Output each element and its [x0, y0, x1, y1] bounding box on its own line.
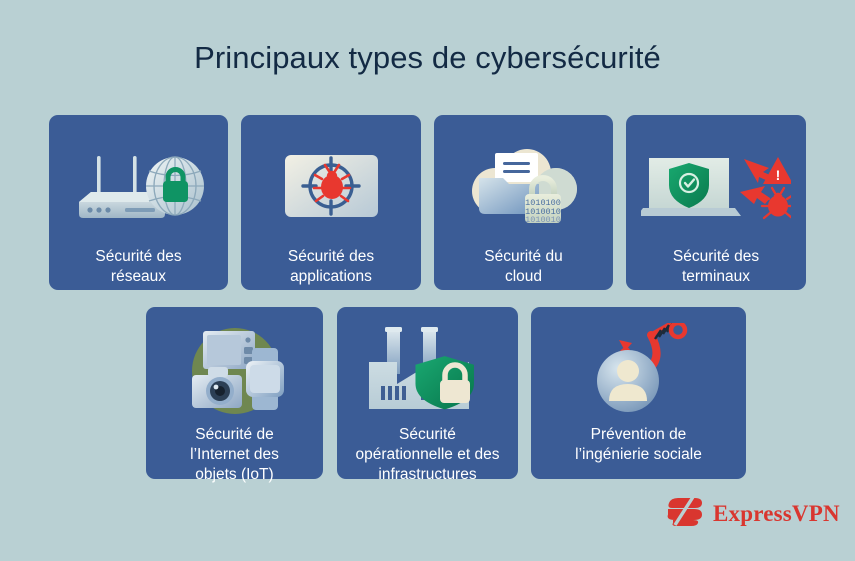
card-label-application-security: Sécurité des applications	[280, 247, 382, 287]
expressvpn-e-mark-icon	[666, 494, 704, 534]
page-title: Principaux types de cybersécurité	[0, 40, 855, 76]
card-label-social-engineering-prevention: Prévention de l’ingénierie sociale	[567, 425, 710, 465]
card-cloud-security[interactable]: 1010100 1010010 1010010 Sécurité du clou…	[434, 115, 613, 290]
factory-shield-lock-icon	[337, 307, 518, 419]
expressvpn-logo[interactable]: ExpressVPN	[666, 494, 840, 534]
screen-crosshair-bug-icon	[241, 115, 421, 237]
card-label-line-1: Sécurité des	[288, 248, 374, 265]
card-label-line-1: Sécurité des	[673, 248, 759, 265]
card-network-security[interactable]: Sécurité des réseaux	[49, 115, 228, 290]
card-endpoint-security[interactable]: !	[626, 115, 806, 290]
card-label-line-2: l’ingénierie sociale	[575, 446, 702, 463]
card-label-line-1: Sécurité du	[484, 248, 562, 265]
cloud-binary-line-3: 1010010	[525, 215, 561, 225]
card-application-security[interactable]: Sécurité des applications	[241, 115, 421, 290]
card-label-line-2: réseaux	[111, 268, 166, 285]
iot-devices-icon	[146, 307, 323, 419]
card-label-line-3: objets (IoT)	[195, 466, 273, 483]
router-globe-lock-icon	[49, 115, 228, 237]
card-label-iot-security: Sécurité de l’Internet des objets (IoT)	[182, 425, 287, 485]
cloud-folder-lock-icon: 1010100 1010010 1010010	[434, 115, 613, 237]
card-label-line-2: l’Internet des	[190, 446, 279, 463]
expressvpn-wordmark: ExpressVPN	[713, 501, 840, 527]
card-social-engineering-prevention[interactable]: Prévention de l’ingénierie sociale	[531, 307, 746, 479]
card-label-line-2: cloud	[505, 268, 542, 285]
card-label-line-1: Sécurité de	[195, 426, 273, 443]
card-operational-infrastructure-security[interactable]: Sécurité opérationnelle et des infrastru…	[337, 307, 518, 479]
card-iot-security[interactable]: Sécurité de l’Internet des objets (IoT)	[146, 307, 323, 479]
card-label-line-3: infrastructures	[378, 466, 476, 483]
card-label-line-1: Sécurité	[399, 426, 456, 443]
card-label-line-1: Sécurité des	[95, 248, 181, 265]
card-label-line-2: applications	[290, 268, 372, 285]
card-label-line-1: Prévention de	[591, 426, 687, 443]
laptop-shield-threat-icon: !	[626, 115, 806, 237]
card-label-network-security: Sécurité des réseaux	[87, 247, 189, 287]
card-label-line-2: opérationnelle et des	[356, 446, 500, 463]
card-label-operational-infrastructure-security: Sécurité opérationnelle et des infrastru…	[348, 425, 508, 485]
infographic-canvas: Principaux types de cybersécurité	[0, 0, 855, 561]
card-label-cloud-security: Sécurité du cloud	[476, 247, 570, 287]
phishing-hook-person-icon	[531, 307, 746, 419]
card-label-endpoint-security: Sécurité des terminaux	[665, 247, 767, 287]
warning-glyph: !	[776, 167, 781, 183]
card-label-line-2: terminaux	[682, 268, 750, 285]
